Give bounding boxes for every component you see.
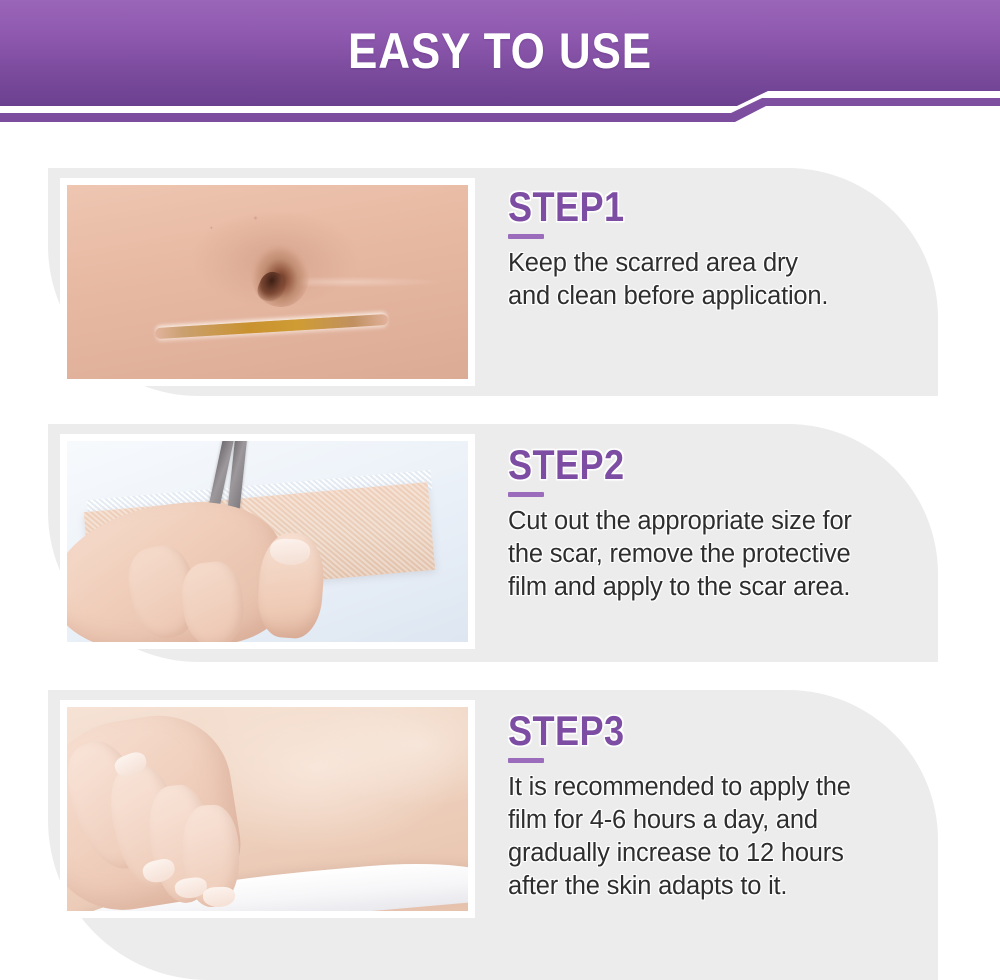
step-card-3: STEP3 It is recommended to apply the fil… xyxy=(48,690,938,980)
step-2-title: STEP2 xyxy=(508,442,878,488)
step-1-text-block: STEP1 Keep the scarred area dry and clea… xyxy=(508,184,938,313)
step-3-title: STEP3 xyxy=(508,708,878,754)
step-3-text-block: STEP3 It is recommended to apply the fil… xyxy=(508,708,938,903)
header-banner: EASY TO USE xyxy=(0,0,1000,125)
step-3-divider xyxy=(508,758,544,763)
step-1-title: STEP1 xyxy=(508,184,878,230)
step-3-description: It is recommended to apply the film for … xyxy=(508,771,938,903)
step-1-divider xyxy=(508,234,544,239)
cutting-scar-sheet-photo xyxy=(60,434,475,649)
step-1-description: Keep the scarred area dry and clean befo… xyxy=(508,247,938,313)
step-2-description: Cut out the appropriate size for the sca… xyxy=(508,505,938,604)
hand-on-abdomen-photo xyxy=(60,700,475,918)
scarred-abdomen-photo xyxy=(60,178,475,386)
step-card-2: STEP2 Cut out the appropriate size for t… xyxy=(48,424,938,662)
step-card-1: STEP1 Keep the scarred area dry and clea… xyxy=(48,168,938,396)
step-2-divider xyxy=(508,492,544,497)
step-2-text-block: STEP2 Cut out the appropriate size for t… xyxy=(508,442,938,604)
page-title: EASY TO USE xyxy=(60,24,940,78)
